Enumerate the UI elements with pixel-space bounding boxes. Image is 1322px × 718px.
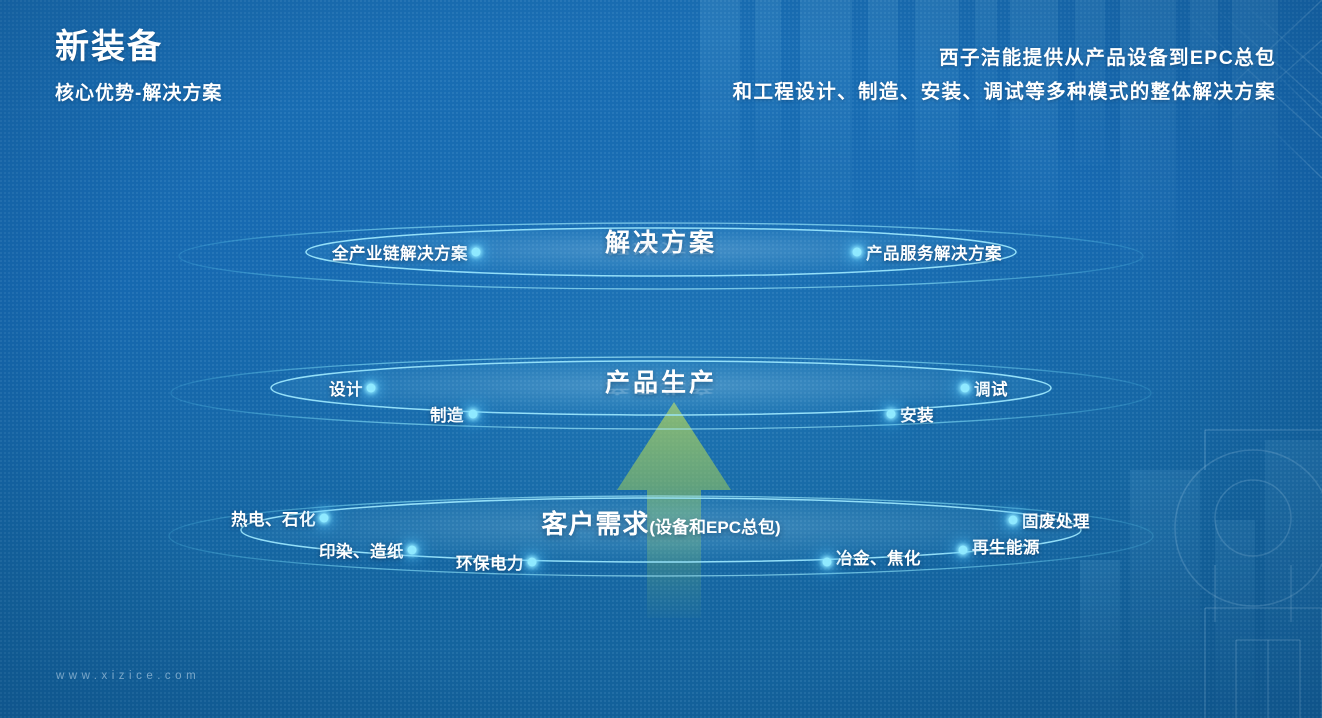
slide-root: 新装备 核心优势-解决方案 西子洁能提供从产品设备到EPC总包 和工程设计、制造… [0,0,1322,718]
node-label-product-service[interactable]: 产品服务解决方案 [866,240,1002,264]
node-label-design[interactable]: 设计 [329,376,363,400]
node-dot-thermal-petrochemical[interactable] [320,514,329,523]
header-description: 西子洁能提供从产品设备到EPC总包 和工程设计、制造、安装、调试等多种模式的整体… [733,42,1276,109]
node-label-installation[interactable]: 安装 [900,402,934,426]
node-dot-commissioning[interactable] [961,384,970,393]
node-dot-solid-waste-treatment[interactable] [1009,516,1018,525]
node-label-commissioning[interactable]: 调试 [974,376,1008,400]
node-label-manufacturing[interactable]: 制造 [430,402,464,426]
layer-production[interactable]: 产品生产 产品生产 设计 制造 安装 调试 [0,338,1322,448]
layer-customer-demand[interactable]: 客户需求(设备和EPC总包) 热电、石化 印染、造纸 环保电力 冶金、焦化 再生… [0,478,1322,608]
node-dot-design[interactable] [367,384,376,393]
node-dot-full-industry-chain[interactable] [472,248,481,257]
page-title: 新装备 [55,28,222,67]
node-label-renewable-energy[interactable]: 再生能源 [972,534,1040,558]
layer-solutions[interactable]: 解决方案 解决方案 全产业链解决方案 产品服务解决方案 [0,198,1322,308]
node-label-full-industry-chain[interactable]: 全产业链解决方案 [332,240,468,264]
header-description-line-1: 西子洁能提供从产品设备到EPC总包 [733,42,1276,76]
node-label-solid-waste-treatment[interactable]: 固废处理 [1022,508,1090,532]
node-dot-renewable-energy[interactable] [959,546,968,555]
page-subtitle: 核心优势-解决方案 [55,78,222,105]
node-label-thermal-petrochemical[interactable]: 热电、石化 [231,506,316,530]
node-label-printing-paper[interactable]: 印染、造纸 [319,538,404,562]
node-dot-metallurgy-coking[interactable] [823,558,832,567]
node-dot-installation[interactable] [887,410,896,419]
footer-website-url: www.xizice.com [56,670,200,682]
node-dot-environmental-power[interactable] [528,558,537,567]
node-dot-manufacturing[interactable] [469,410,478,419]
node-label-metallurgy-coking[interactable]: 冶金、焦化 [836,545,921,569]
node-dot-product-service[interactable] [853,248,862,257]
header-description-line-2: 和工程设计、制造、安装、调试等多种模式的整体解决方案 [733,76,1276,110]
node-dot-printing-paper[interactable] [408,546,417,555]
node-label-environmental-power[interactable]: 环保电力 [456,550,524,574]
title-block: 新装备 核心优势-解决方案 [55,28,222,105]
